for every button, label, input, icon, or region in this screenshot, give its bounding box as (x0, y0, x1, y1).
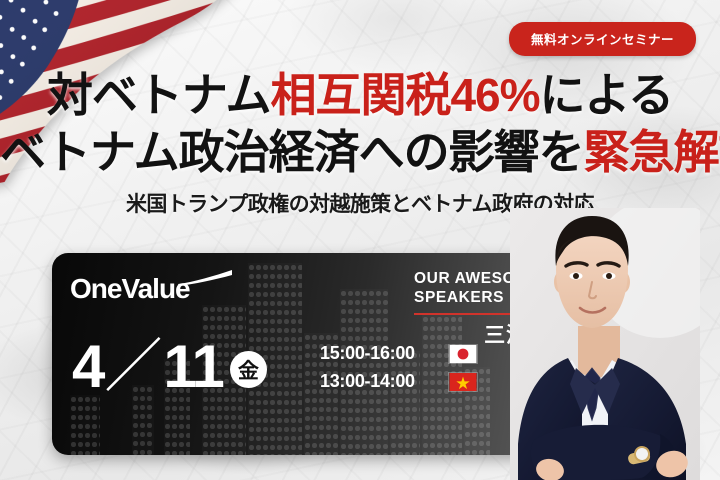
time-range-vietnam: 13:00-14:00 (320, 371, 440, 392)
headline-line1-part1: 対ベトナム (47, 69, 271, 121)
day-of-week-badge: 金 (230, 351, 267, 388)
headline-line-2: ベトナム政治経済への影響を緊急解説 (0, 129, 720, 175)
event-month: 4 (72, 337, 103, 397)
event-times: 15:00-16:00 13:00-14:00 (320, 343, 478, 399)
headline: 対ベトナム相互関税46%による ベトナム政治経済への影響を緊急解説 (0, 72, 720, 175)
event-day: 11 (163, 337, 222, 397)
time-row-vietnam: 13:00-14:00 (320, 371, 478, 392)
logo-text: OneValue (70, 273, 190, 304)
seminar-poster: 無料オンラインセミナー 対ベトナム相互関税46%による ベトナム政治経済への影響… (0, 0, 720, 480)
vietnam-flag-icon (448, 372, 478, 392)
free-seminar-badge: 無料オンラインセミナー (509, 22, 696, 56)
headline-line1-highlight: 相互関税46% (270, 69, 539, 121)
speaker-portrait-photo (510, 208, 700, 480)
headline-line-1: 対ベトナム相互関税46%による (0, 72, 720, 118)
onevalue-logo: OneValue (70, 273, 190, 305)
event-date: 4 ／ 11 金 (72, 337, 267, 397)
headline-line2-highlight: 緊急解説 (584, 126, 720, 178)
upward-swoosh-icon (176, 270, 234, 286)
headline-line1-part3: による (540, 69, 674, 121)
headline-line2-part1: ベトナム政治経済への影響を (0, 126, 584, 178)
date-separator: ／ (104, 338, 162, 396)
